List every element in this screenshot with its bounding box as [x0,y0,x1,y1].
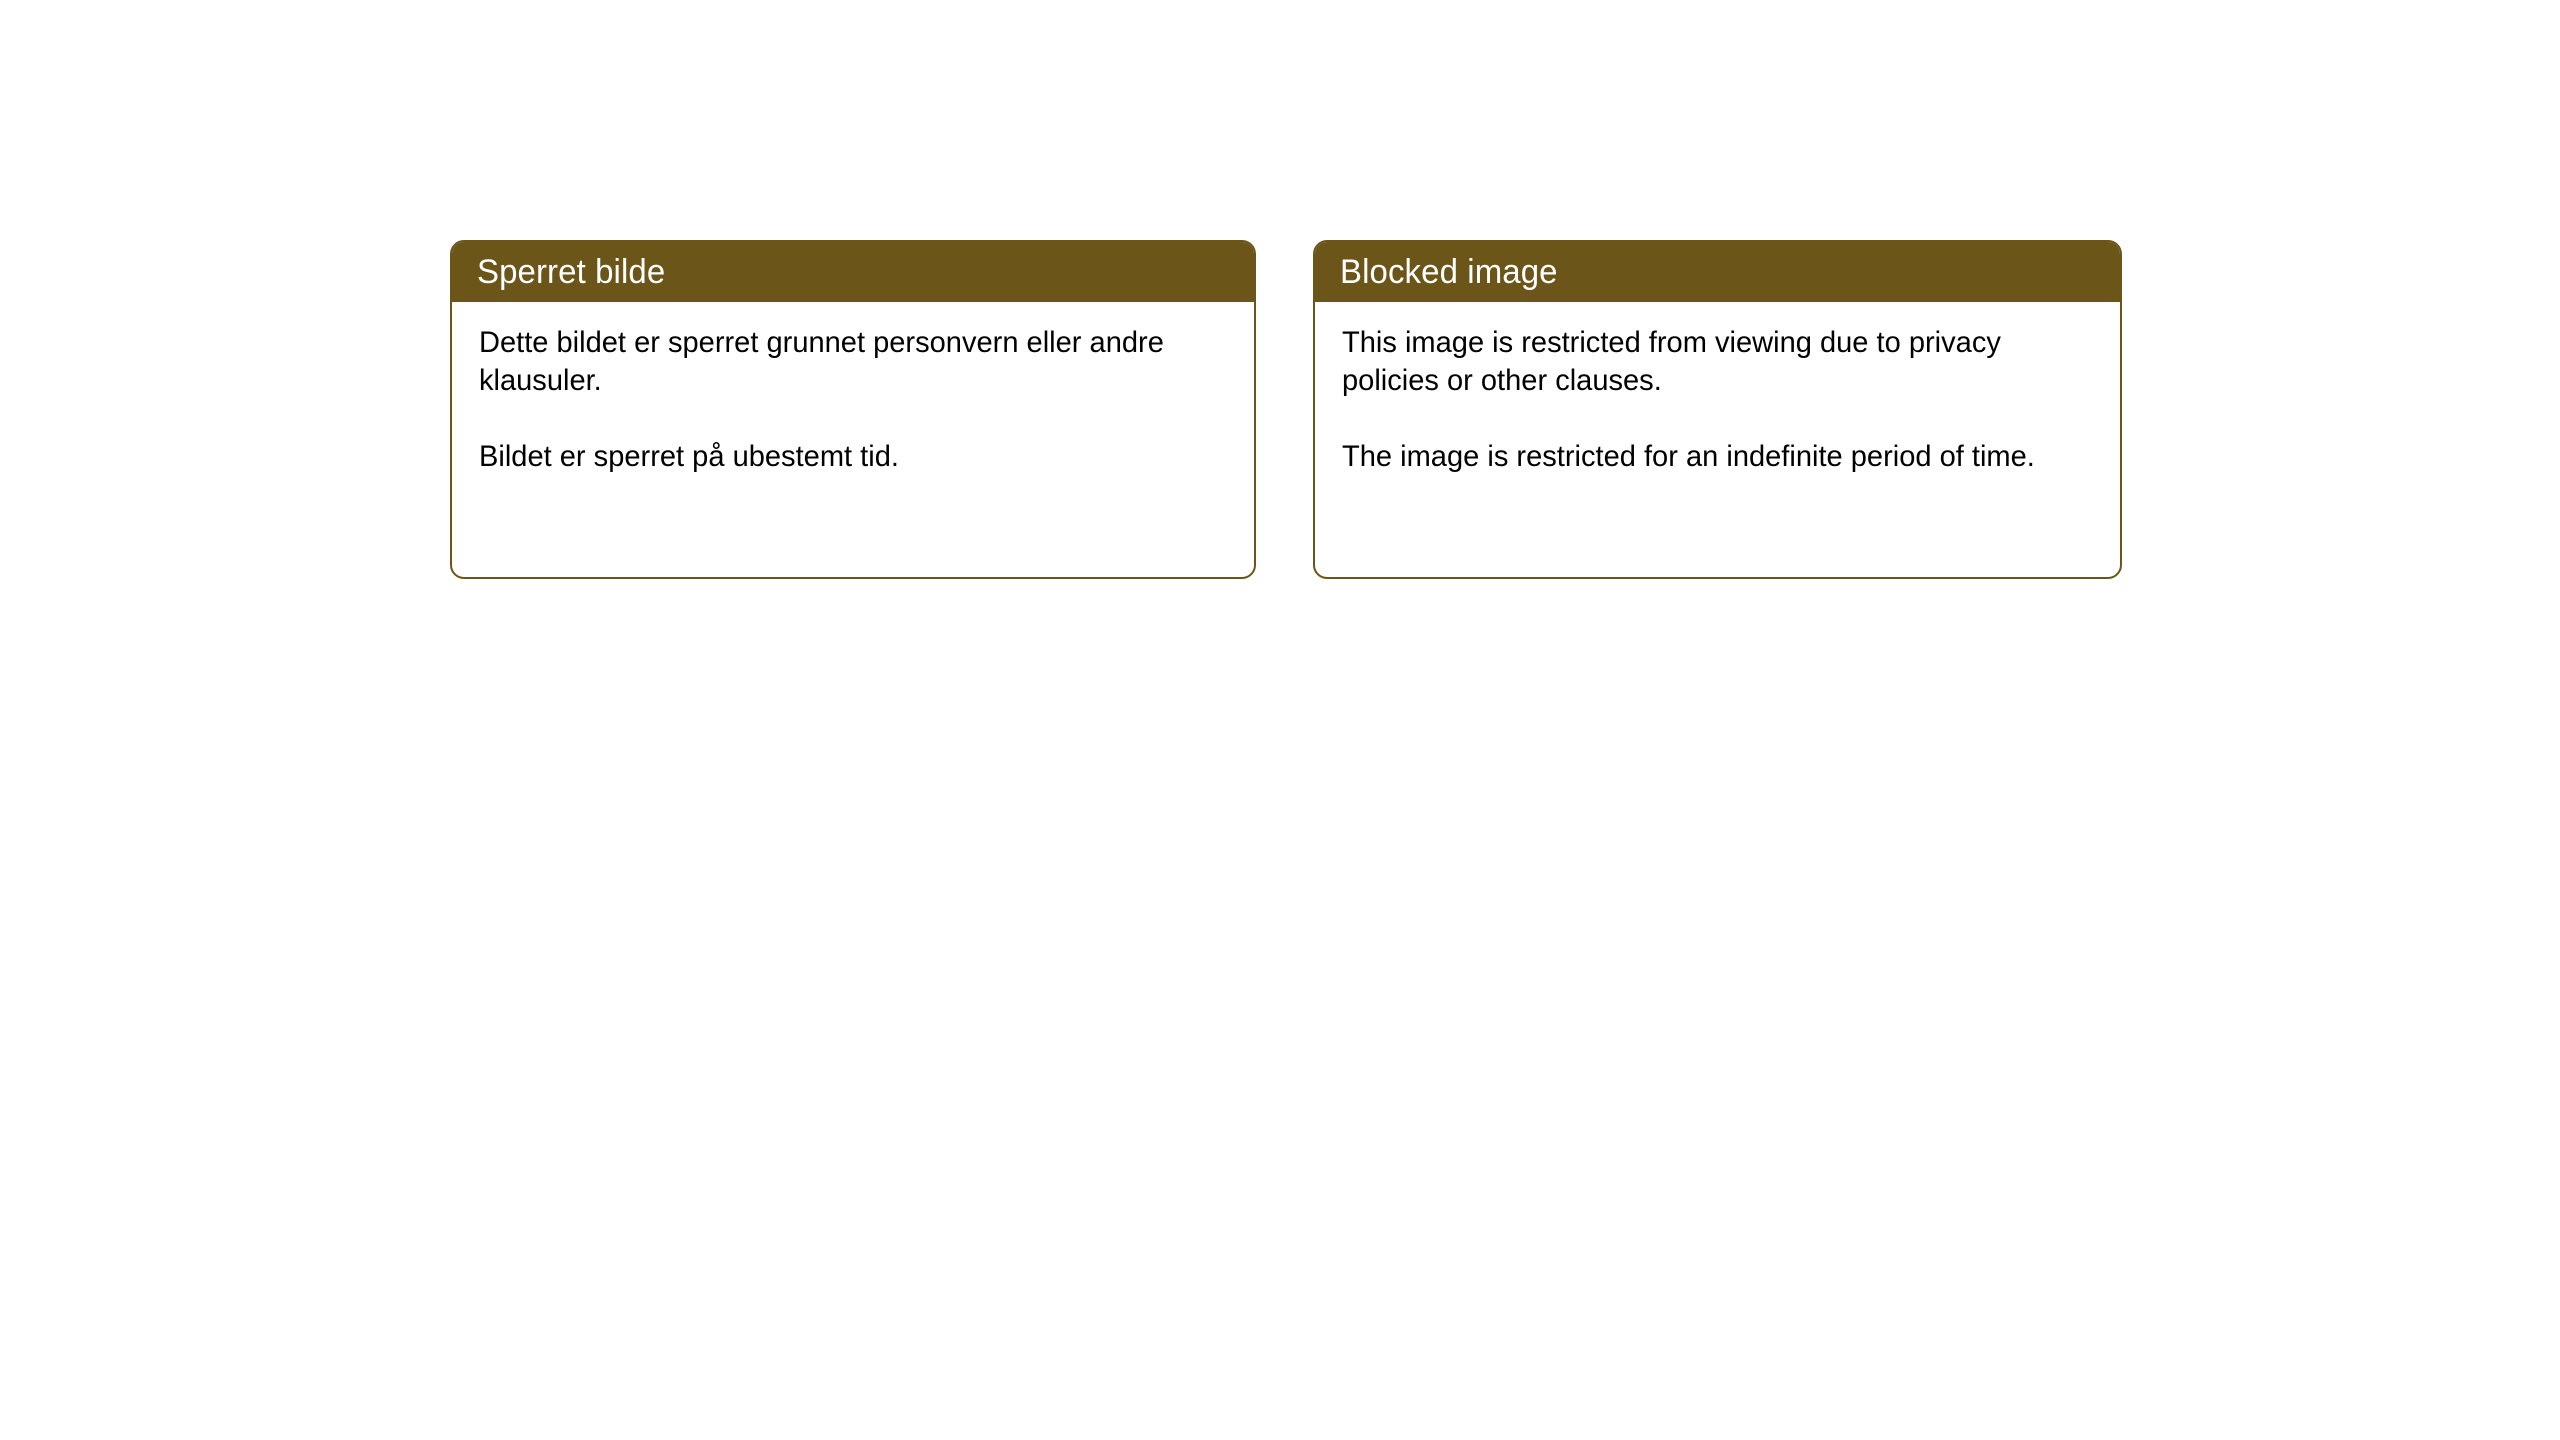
card-paragraph-duration-norwegian: Bildet er sperret på ubestemt tid. [479,438,1217,476]
card-header-norwegian: Sperret bilde [452,242,1254,302]
card-header-english: Blocked image [1315,242,2120,302]
card-paragraph-duration-english: The image is restricted for an indefinit… [1342,438,2083,476]
card-title-norwegian: Sperret bilde [477,255,665,289]
blocked-image-card-norwegian: Sperret bilde Dette bildet er sperret gr… [450,240,1256,579]
page-root: Sperret bilde Dette bildet er sperret gr… [0,0,2560,1440]
card-body-english: This image is restricted from viewing du… [1315,302,2120,577]
blocked-image-card-english: Blocked image This image is restricted f… [1313,240,2122,579]
card-body-norwegian: Dette bildet er sperret grunnet personve… [452,302,1254,577]
card-paragraph-reason-english: This image is restricted from viewing du… [1342,324,2083,400]
card-paragraph-reason-norwegian: Dette bildet er sperret grunnet personve… [479,324,1217,400]
card-title-english: Blocked image [1340,255,1558,289]
blocked-image-card-group: Sperret bilde Dette bildet er sperret gr… [450,240,2122,579]
